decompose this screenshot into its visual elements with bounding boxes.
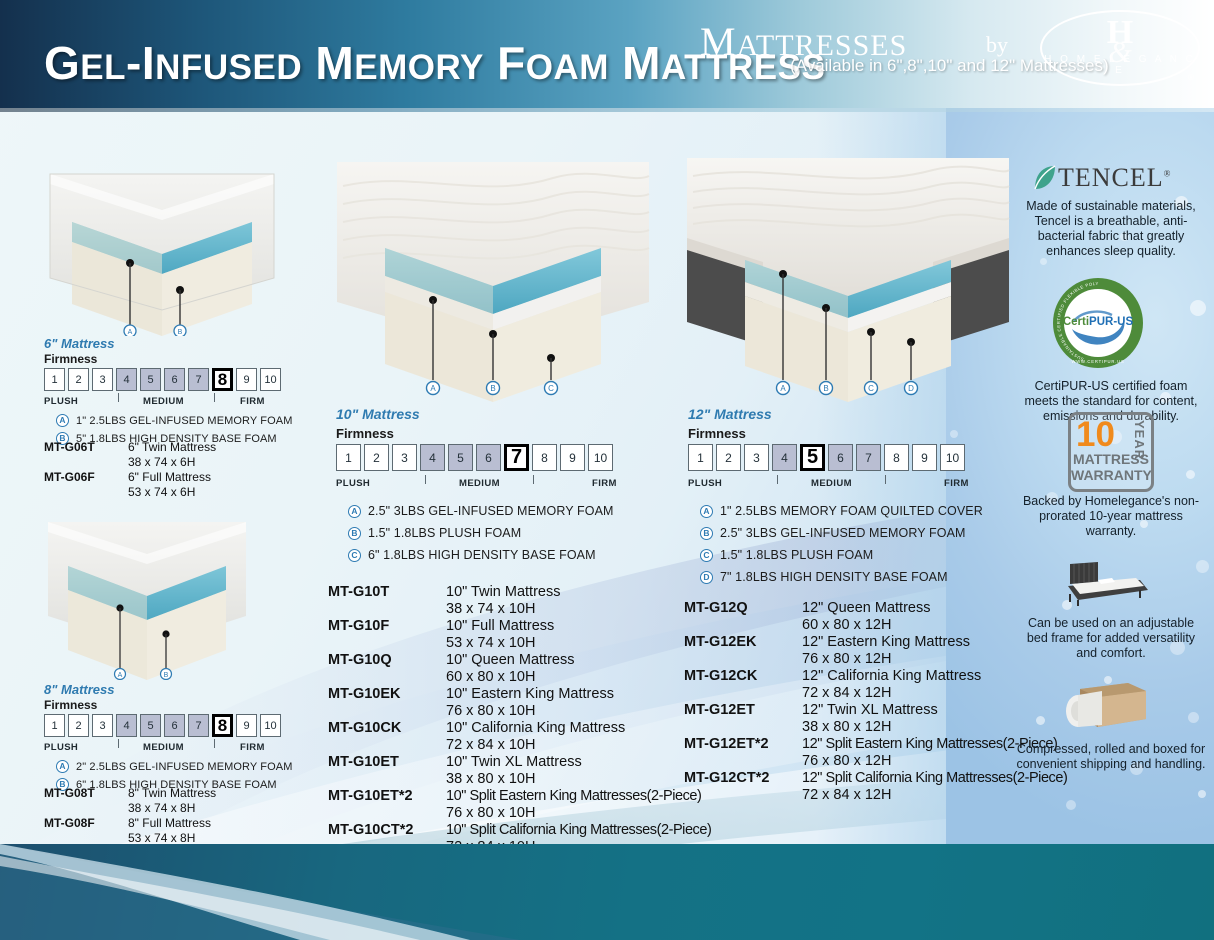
firmness-scale-6[interactable]: 12345678910 [44,368,281,391]
shipping-description: Compressed, rolled and boxed for conveni… [1016,742,1206,772]
logo-registered: ® [1188,73,1194,82]
sku-description: 10" Split Eastern King Mattresses(2-Piec… [446,788,701,804]
firmness-cell-3[interactable]: 3 [744,444,769,471]
scale-range-plush-12: PLUSH [688,478,722,489]
sku-entry: MT-G06T6" Twin Mattress 38 x 74 x 6H [44,440,216,469]
scale-tick-right-10 [533,475,534,484]
sku-description: 10" California King Mattress [446,720,625,736]
firmness-cell-9[interactable]: 9 [236,714,257,737]
firmness-cell-7[interactable]: 7 [188,714,209,737]
sku-entry: MT-G10ET10" Twin XL Mattress 38 x 80 x 1… [328,754,711,787]
sku-description: 12" Twin XL Mattress [802,702,938,718]
sku-entry: MT-G10EK10" Eastern King Mattress 76 x 8… [328,686,711,719]
firmness-label-8: Firmness [44,698,97,712]
layer-marker-A: A [56,760,69,773]
svg-text:A: A [128,329,133,336]
firmness-cell-8[interactable]: 8 [884,444,909,471]
sku-code: MT-G12EK [684,634,802,650]
firmness-cell-1[interactable]: 1 [336,444,361,471]
scale-range-plush-8: PLUSH [44,742,78,753]
firmness-cell-9[interactable]: 9 [236,368,257,391]
layer-marker-A: A [56,414,69,427]
firmness-cell-10[interactable]: 10 [588,444,613,471]
warranty-line-1: MATTRESS [1071,451,1151,467]
sku-dimensions: 76 x 80 x 12H [802,753,891,769]
sku-entry: MT-G10F10" Full Mattress 53 x 74 x 10H [328,618,711,651]
firmness-cell-1[interactable]: 1 [688,444,713,471]
sku-spacer [684,617,802,633]
firmness-label-6: Firmness [44,352,97,366]
firmness-cell-10[interactable]: 10 [260,714,281,737]
firmness-label-10: Firmness [336,426,394,441]
firmness-cell-7[interactable]: 7 [188,368,209,391]
sku-code: MT-G10Q [328,652,446,668]
scale-tick-left-12 [777,475,778,484]
section-title-6: 6" Mattress [44,336,114,351]
firmness-cell-6[interactable]: 6 [164,368,185,391]
sku-dimensions: 76 x 80 x 10H [446,805,535,821]
sku-code: MT-G08T [44,786,128,800]
adjustable-bed-illustration [1052,556,1152,608]
warranty-number: 10 [1076,417,1115,452]
sku-code: MT-G06T [44,440,128,454]
svg-text:D: D [908,384,914,393]
scale-tick-right-12 [885,475,886,484]
firmness-cell-8[interactable]: 8 [212,714,233,737]
sku-entry: MT-G12CK12" California King Mattress 72 … [684,668,1067,701]
sku-entry: MT-G12EK12" Eastern King Mattress 76 x 8… [684,634,1067,667]
svg-text:B: B [164,672,169,679]
mattress-illustration-8: A B [42,508,252,680]
sku-code: MT-G12ET*2 [684,736,802,752]
firmness-cell-2[interactable]: 2 [68,368,89,391]
sku-spacer [684,787,802,803]
sku-dimensions: 38 x 80 x 10H [446,771,535,787]
sku-dimensions: 60 x 80 x 12H [802,617,891,633]
scale-range-firm-6: FIRM [240,396,265,407]
layer-item-A: A1" 2.5LBS MEMORY FOAM QUILTED COVER [700,504,983,518]
firmness-cell-4[interactable]: 4 [772,444,797,471]
mattress-illustration-12: A B C D [683,150,1013,402]
mattress-illustration-10: A B C [333,152,653,402]
logo-wordmark: H O M E L E G A N C E [1040,54,1200,76]
adjustable-bed-description: Can be used on an adjustable bed frame f… [1016,616,1206,661]
scale-range-medium-6: MEDIUM [143,396,184,407]
sku-description: 6" Full Mattress [128,470,211,484]
sku-description: 12" Split California King Mattresses(2-P… [802,770,1067,786]
footer-title: MATTRESSES [700,18,907,65]
layer-marker-C: C [348,549,361,562]
sku-code: MT-G06F [44,470,128,484]
section-title-10: 10" Mattress [336,406,420,422]
layer-text: 1.5" 1.8LBS PLUSH FOAM [720,548,873,562]
layer-marker-A: A [348,505,361,518]
firmness-cell-2[interactable]: 2 [68,714,89,737]
scale-tick-right-6 [214,393,215,402]
sku-code: MT-G12ET [684,702,802,718]
firmness-cell-6[interactable]: 6 [476,444,501,471]
footer-waves [0,844,1214,940]
svg-text:C: C [548,384,554,393]
mattress-illustration-6: A B [42,158,282,336]
scale-tick-right-8 [214,739,215,748]
homelegance-logo: H & H O M E L E G A N C E ® [1040,10,1200,86]
shipping-box-illustration [1050,675,1158,735]
sku-list-10: MT-G10T10" Twin Mattress 38 x 74 x 10HMT… [328,584,711,856]
layer-item-A: A2" 2.5LBS GEL-INFUSED MEMORY FOAM [56,760,292,773]
svg-text:B: B [490,384,495,393]
firmness-cell-10[interactable]: 10 [940,444,965,471]
sku-dimensions: 53 x 74 x 10H [446,635,535,651]
footer-by: by [986,32,1008,58]
scale-tick-left-10 [425,475,426,484]
sku-entry: MT-G12CT*212" Split California King Matt… [684,770,1067,803]
firmness-cell-7[interactable]: 7 [856,444,881,471]
section-title-8: 8" Mattress [44,682,114,697]
firmness-cell-8[interactable]: 8 [532,444,557,471]
sku-spacer [328,805,446,821]
scale-range-plush-10: PLUSH [336,478,370,489]
scale-range-firm-12: FIRM [944,478,969,489]
sku-description: 6" Twin Mattress [128,440,216,454]
firmness-cell-7[interactable]: 7 [504,444,529,471]
firmness-cell-3[interactable]: 3 [92,368,113,391]
scale-tick-left-6 [118,393,119,402]
sku-entry: MT-G10CK10" California King Mattress 72 … [328,720,711,753]
warranty-badge: 10 YEAR MATTRESS WARRANTY [1068,412,1154,492]
sku-spacer [684,685,802,701]
sku-entry: MT-G12Q12" Queen Mattress 60 x 80 x 12H [684,600,1067,633]
sku-spacer [328,601,446,617]
spec-sheet-page: GEL-INFUSED MEMORY FOAM MATTRESS (Availa… [0,0,1214,940]
sku-code: MT-G10EK [328,686,446,702]
layer-list-12: A1" 2.5LBS MEMORY FOAM QUILTED COVERB2.5… [700,504,983,592]
sku-dimensions: 60 x 80 x 10H [446,669,535,685]
firmness-cell-3[interactable]: 3 [392,444,417,471]
sku-code: MT-G10CK [328,720,446,736]
sku-dimensions: 76 x 80 x 10H [446,703,535,719]
scale-range-firm-8: FIRM [240,742,265,753]
firmness-cell-4[interactable]: 4 [116,714,137,737]
layer-item-C: C6" 1.8LBS HIGH DENSITY BASE FOAM [348,548,614,562]
firmness-cell-8[interactable]: 8 [212,368,233,391]
svg-text:B: B [823,384,828,393]
sku-description: 10" Eastern King Mattress [446,686,614,702]
layer-list-10: A2.5" 3LBS GEL-INFUSED MEMORY FOAMB1.5" … [348,504,614,570]
sku-entry: MT-G10ET*210" Split Eastern King Mattres… [328,788,711,821]
sku-entry: MT-G06F6" Full Mattress 53 x 74 x 6H [44,470,216,499]
sku-description: 10" Twin XL Mattress [446,754,582,770]
svg-text:A: A [430,384,436,393]
sku-spacer [44,801,128,815]
svg-text:C: C [868,384,874,393]
sku-spacer [328,635,446,651]
layer-text: 1.5" 1.8LBS PLUSH FOAM [368,526,521,540]
firmness-cell-5[interactable]: 5 [448,444,473,471]
sku-description: 10" Full Mattress [446,618,554,634]
layer-text: 6" 1.8LBS HIGH DENSITY BASE FOAM [368,548,596,562]
layer-item-A: A2.5" 3LBS GEL-INFUSED MEMORY FOAM [348,504,614,518]
scale-range-firm-10: FIRM [592,478,617,489]
sku-description: 8" Full Mattress [128,816,211,830]
firmness-scale-8[interactable]: 12345678910 [44,714,281,737]
firmness-cell-4[interactable]: 4 [420,444,445,471]
firmness-cell-9[interactable]: 9 [560,444,585,471]
layer-item-D: D7" 1.8LBS HIGH DENSITY BASE FOAM [700,570,983,584]
sku-entry: MT-G08T8" Twin Mattress 38 x 74 x 8H [44,786,228,815]
firmness-cell-5[interactable]: 5 [140,368,161,391]
sku-spacer [44,485,128,499]
firmness-cell-6[interactable]: 6 [164,714,185,737]
layer-item-A: A1" 2.5LBS GEL-INFUSED MEMORY FOAM [56,414,292,427]
sku-entry: MT-G10T10" Twin Mattress 38 x 74 x 10H [328,584,711,617]
firmness-cell-9[interactable]: 9 [912,444,937,471]
layer-text: 2.5" 3LBS GEL-INFUSED MEMORY FOAM [720,526,966,540]
sku-dimensions: 76 x 80 x 12H [802,651,891,667]
sku-entry: MT-G08F8" Full Mattress 53 x 74 x 8H [44,816,228,845]
layer-marker-B: B [348,527,361,540]
sku-dimensions: 38 x 74 x 10H [446,601,535,617]
warranty-description: Backed by Homelegance's non-prorated 10-… [1016,494,1206,539]
firmness-cell-5[interactable]: 5 [800,444,825,471]
firmness-scale-10[interactable]: 12345678910 [336,444,613,471]
sku-dimensions: 38 x 74 x 8H [128,801,195,815]
sku-code: MT-G10F [328,618,446,634]
sku-dimensions: 53 x 74 x 8H [128,831,195,845]
layer-text: 2.5" 3LBS GEL-INFUSED MEMORY FOAM [368,504,614,518]
layer-item-C: C1.5" 1.8LBS PLUSH FOAM [700,548,983,562]
layer-text: 1" 2.5LBS GEL-INFUSED MEMORY FOAM [76,415,292,427]
scale-range-medium-8: MEDIUM [143,742,184,753]
layer-item-B: B2.5" 3LBS GEL-INFUSED MEMORY FOAM [700,526,983,540]
sku-spacer [684,753,802,769]
sku-spacer [684,719,802,735]
layer-marker-A: A [700,505,713,518]
sku-code: MT-G08F [44,816,128,830]
sku-entry: MT-G10Q10" Queen Mattress 60 x 80 x 10H [328,652,711,685]
sku-spacer [328,771,446,787]
firmness-cell-1[interactable]: 1 [44,368,65,391]
sku-description: 8" Twin Mattress [128,786,216,800]
layer-text: 1" 2.5LBS MEMORY FOAM QUILTED COVER [720,504,983,518]
sku-dimensions: 72 x 84 x 12H [802,787,891,803]
layer-marker-D: D [700,571,713,584]
sku-description: 10" Split California King Mattresses(2-P… [446,822,711,838]
scale-range-medium-10: MEDIUM [459,478,500,489]
layer-text: 2" 2.5LBS GEL-INFUSED MEMORY FOAM [76,761,292,773]
sku-spacer [684,651,802,667]
scale-range-plush-6: PLUSH [44,396,78,407]
firmness-cell-5[interactable]: 5 [140,714,161,737]
svg-text:WWW.CERTIPUR.US: WWW.CERTIPUR.US [1071,359,1124,364]
tencel-description: Made of sustainable materials, Tencel is… [1016,199,1206,259]
tencel-logo: TENCEL® [1032,163,1172,193]
certipur-badge: CertiPUR-US SUSTAINABLE CERTIFIED FLEXIB… [1052,277,1144,369]
svg-text:A: A [118,672,123,679]
sku-code: MT-G10ET [328,754,446,770]
sku-description: 12" California King Mattress [802,668,981,684]
tencel-registered: ® [1164,168,1172,178]
scale-tick-left-8 [118,739,119,748]
svg-text:CertiPUR-US: CertiPUR-US [1063,316,1134,328]
header-underline [0,108,1214,112]
layer-item-B: B1.5" 1.8LBS PLUSH FOAM [348,526,614,540]
firmness-cell-3[interactable]: 3 [92,714,113,737]
sku-dimensions: 53 x 74 x 6H [128,485,195,499]
sku-spacer [328,737,446,753]
firmness-cell-4[interactable]: 4 [116,368,137,391]
sku-dimensions: 38 x 74 x 6H [128,455,195,469]
layer-marker-B: B [700,527,713,540]
firmness-cell-6[interactable]: 6 [828,444,853,471]
firmness-label-12: Firmness [688,426,746,441]
layer-text: 7" 1.8LBS HIGH DENSITY BASE FOAM [720,570,948,584]
scale-range-medium-12: MEDIUM [811,478,852,489]
sku-spacer [328,669,446,685]
leaf-icon [1032,164,1058,192]
sku-code: MT-G12CK [684,668,802,684]
sku-description: 10" Twin Mattress [446,584,560,600]
layer-marker-C: C [700,549,713,562]
tencel-text: TENCEL [1058,163,1164,192]
sku-entry: MT-G12ET12" Twin XL Mattress 38 x 80 x 1… [684,702,1067,735]
sku-description: 10" Queen Mattress [446,652,574,668]
sku-spacer [328,703,446,719]
firmness-scale-12[interactable]: 12345678910 [688,444,965,471]
firmness-cell-2[interactable]: 2 [716,444,741,471]
sku-description: 12" Eastern King Mattress [802,634,970,650]
sku-dimensions: 72 x 84 x 12H [802,685,891,701]
svg-text:B: B [178,329,183,336]
firmness-cell-10[interactable]: 10 [260,368,281,391]
sku-code: MT-G10ET*2 [328,788,446,804]
sku-code: MT-G10CT*2 [328,822,446,838]
sku-code: MT-G12CT*2 [684,770,802,786]
sku-spacer [44,831,128,845]
firmness-cell-2[interactable]: 2 [364,444,389,471]
warranty-line-2: WARRANTY [1071,467,1151,483]
tencel-wordmark: TENCEL® [1058,163,1172,193]
firmness-cell-1[interactable]: 1 [44,714,65,737]
sku-spacer [44,455,128,469]
sku-list-6: MT-G06T6" Twin Mattress 38 x 74 x 6HMT-G… [44,440,216,500]
sku-code: MT-G10T [328,584,446,600]
sku-code: MT-G12Q [684,600,802,616]
sku-dimensions: 72 x 84 x 10H [446,737,535,753]
section-title-12: 12" Mattress [688,406,772,422]
sku-list-12: MT-G12Q12" Queen Mattress 60 x 80 x 12HM… [684,600,1067,804]
sku-description: 12" Queen Mattress [802,600,930,616]
sku-entry: MT-G12ET*212" Split Eastern King Mattres… [684,736,1067,769]
sku-dimensions: 38 x 80 x 12H [802,719,891,735]
svg-text:A: A [780,384,786,393]
